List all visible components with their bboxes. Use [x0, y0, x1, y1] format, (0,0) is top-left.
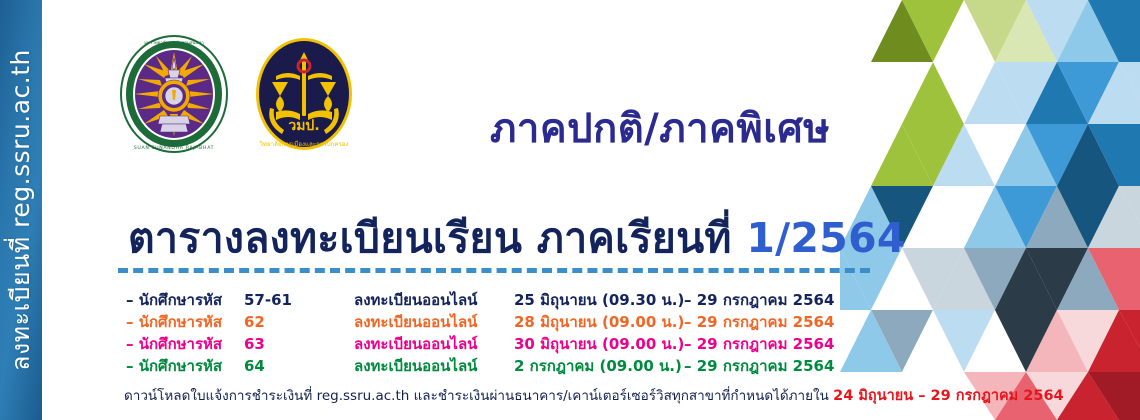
row-start: 28 มิถุนายน (09.00 น.)	[514, 310, 684, 334]
row-label: – นักศึกษารหัส	[126, 354, 244, 378]
row-method: ลงทะเบียนออนไลน์	[354, 354, 514, 378]
row-code: 57-61	[244, 291, 354, 309]
table-row: – นักศึกษารหัส 57-61 ลงทะเบียนออนไลน์ 25…	[126, 288, 886, 310]
program-type-subtitle: ภาคปกติ/ภาคพิเศษ	[490, 96, 830, 160]
row-label: – นักศึกษารหัส	[126, 288, 244, 312]
row-start: 30 มิถุนายน (09.00 น.)	[514, 332, 684, 356]
row-code: 62	[244, 313, 354, 331]
svg-text:วมป.: วมป.	[288, 118, 319, 134]
row-start: 2 กรกฎาคม (09.00 น.)	[514, 354, 684, 378]
page-title-main: ตารางลงทะเบียนเรียน ภาคเรียนที่	[128, 214, 746, 262]
sidebar-url-banner: ลงทะเบียนที่ reg.ssru.ac.th	[0, 0, 42, 420]
table-row: – นักศึกษารหัส 64 ลงทะเบียนออนไลน์ 2 กรก…	[126, 354, 886, 376]
row-method: ลงทะเบียนออนไลน์	[354, 310, 514, 334]
dashed-divider	[118, 268, 870, 273]
ssru-logo: มหาวิทยาลัยราชภัฏสวนสุนันทา SUAN SUNANDH…	[118, 34, 230, 154]
svg-text:มหาวิทยาลัยราชภัฏสวนสุนันทา: มหาวิทยาลัยราชภัฏสวนสุนันทา	[144, 40, 204, 46]
table-row: – นักศึกษารหัส 62 ลงทะเบียนออนไลน์ 28 มิ…	[126, 310, 886, 332]
sidebar-url-text: ลงทะเบียนที่ reg.ssru.ac.th	[1, 49, 41, 371]
row-end: – 29 กรกฎาคม 2564	[684, 310, 864, 334]
row-code: 64	[244, 357, 354, 375]
row-label: – นักศึกษารหัส	[126, 332, 244, 356]
row-end: – 29 กรกฎาคม 2564	[684, 332, 864, 356]
payment-note: ดาวน์โหลดใบแจ้งการชำระเงินที่ reg.ssru.a…	[124, 384, 1064, 407]
payment-note-text: ดาวน์โหลดใบแจ้งการชำระเงินที่ reg.ssru.a…	[124, 388, 833, 404]
page-title: ตารางลงทะเบียนเรียน ภาคเรียนที่ 1/2564	[128, 206, 906, 271]
row-method: ลงทะเบียนออนไลน์	[354, 332, 514, 356]
page-title-term: 1/2564	[746, 214, 905, 262]
row-start: 25 มิถุนายน (09.30 น.)	[514, 288, 684, 312]
svg-text:SUAN SUNANDHA RAJABHAT: SUAN SUNANDHA RAJABHAT	[134, 145, 214, 151]
payment-note-deadline: 24 มิถุนายน – 29 กรกฎาคม 2564	[833, 388, 1064, 404]
schedule-table: – นักศึกษารหัส 57-61 ลงทะเบียนออนไลน์ 25…	[126, 288, 886, 376]
table-row: – นักศึกษารหัส 63 ลงทะเบียนออนไลน์ 30 มิ…	[126, 332, 886, 354]
row-label: – นักศึกษารหัส	[126, 310, 244, 334]
row-code: 63	[244, 335, 354, 353]
row-method: ลงทะเบียนออนไลน์	[354, 288, 514, 312]
row-end: – 29 กรกฎาคม 2564	[684, 288, 864, 312]
row-end: – 29 กรกฎาคม 2564	[684, 354, 864, 378]
logo-group: มหาวิทยาลัยราชภัฏสวนสุนันทา SUAN SUNANDH…	[118, 34, 368, 154]
svg-text:วิทยาลัยการเมืองและการปกครอง: วิทยาลัยการเมืองและการปกครอง	[259, 140, 349, 148]
cpg-logo: วมป. วิทยาลัยการเมืองและการปกครอง	[248, 34, 360, 154]
registration-schedule-poster: ลงทะเบียนที่ reg.ssru.ac.th	[0, 0, 1140, 420]
